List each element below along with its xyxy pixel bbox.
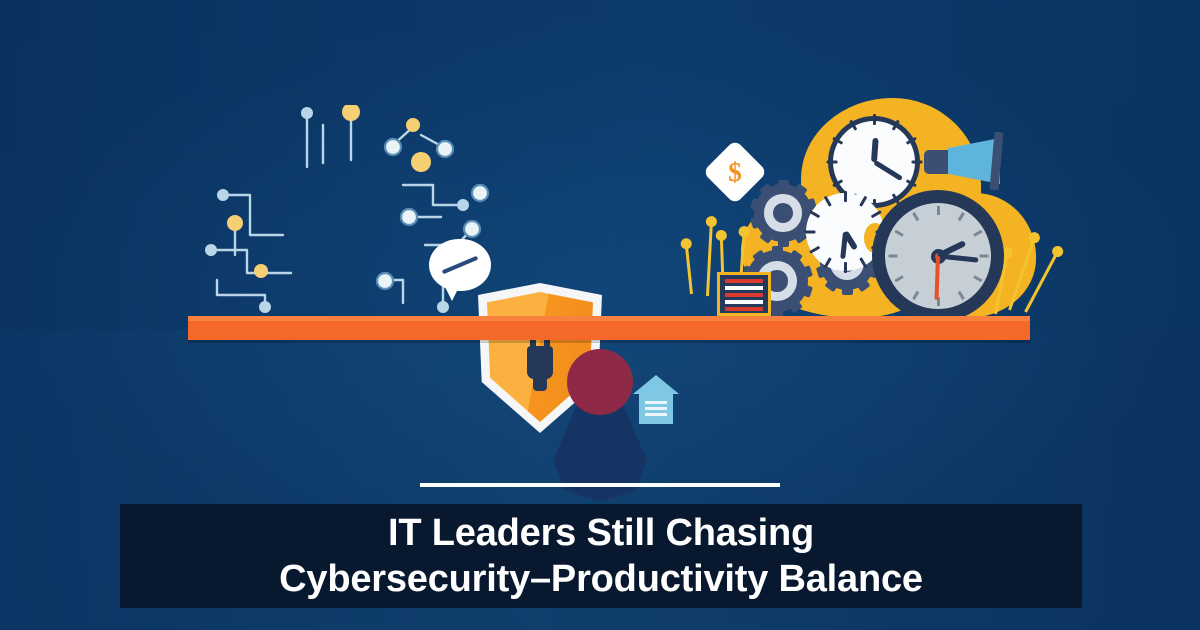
clock-tick xyxy=(808,231,845,234)
document-line xyxy=(725,300,763,304)
clock-tick xyxy=(830,161,874,164)
gear-tooth xyxy=(787,298,802,313)
title-divider xyxy=(420,483,780,487)
title-band: IT Leaders Still Chasing Cybersecurity–P… xyxy=(120,504,1082,608)
house-document-icon xyxy=(633,375,679,424)
house-roof xyxy=(633,375,679,394)
cybersecurity-cluster xyxy=(195,105,505,320)
document-line xyxy=(725,286,763,290)
balance-beam xyxy=(188,316,1030,340)
clock-tick xyxy=(873,162,876,206)
page-title-line-2: Cybersecurity–Productivity Balance xyxy=(279,556,923,602)
gear-tooth xyxy=(842,284,853,295)
document-line xyxy=(725,293,763,297)
speech-bubble-tail-icon xyxy=(443,283,461,301)
balance-beam-highlight xyxy=(188,316,1030,321)
page-title-line-1: IT Leaders Still Chasing xyxy=(388,510,814,556)
document-card-icon xyxy=(717,272,771,316)
gear-tooth xyxy=(772,246,783,257)
house-document-line xyxy=(645,413,667,416)
clock-tick xyxy=(886,255,938,258)
gear-tooth xyxy=(759,183,774,198)
dollar-sign-icon: $ xyxy=(712,149,758,195)
gear-tooth xyxy=(749,197,763,211)
promo-graphic: $ xyxy=(0,0,1200,630)
gear-tooth xyxy=(749,215,763,229)
gear-tooth xyxy=(799,265,813,279)
pin-head xyxy=(680,238,692,250)
padlock-keyhole-icon xyxy=(533,375,547,391)
productivity-cluster: $ xyxy=(686,88,1046,320)
house-document-line xyxy=(645,407,667,410)
megaphone-handle-icon xyxy=(924,150,952,174)
gear-tooth xyxy=(778,180,789,191)
gear-icon xyxy=(754,184,812,242)
gear-tooth xyxy=(772,306,783,317)
pin-head xyxy=(706,216,718,228)
document-card-body xyxy=(720,275,768,313)
clock-tick xyxy=(937,204,940,256)
stopwatch-icon xyxy=(872,190,1004,322)
pin-marker-icon xyxy=(706,226,713,296)
pin-head xyxy=(716,230,727,241)
gear-tooth xyxy=(799,283,813,297)
document-line xyxy=(725,279,763,283)
house-document-line xyxy=(645,401,667,404)
document-line xyxy=(725,307,763,311)
fulcrum-ball xyxy=(567,349,633,415)
pin-marker-icon xyxy=(685,248,693,294)
